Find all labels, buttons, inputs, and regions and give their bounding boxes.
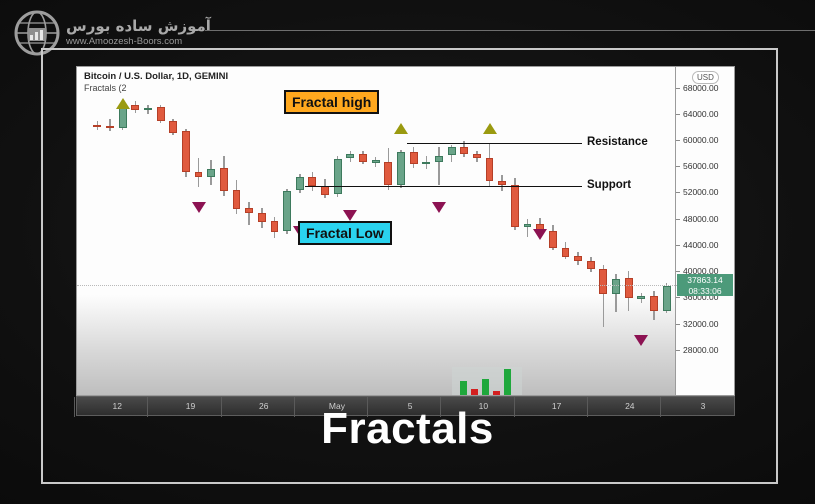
plot-bottom-shade [77,295,677,396]
resistance-label: Resistance [587,136,648,148]
candle-body [195,172,203,177]
fractal-low-callout: Fractal Low [298,221,392,245]
fractal-up-marker [483,123,497,134]
resistance-line [407,143,582,144]
fractal-down-marker [343,210,357,221]
candle-body [650,296,658,310]
chart-panel: Trading Strategy Guides Tradingstrategyg… [76,66,735,396]
candle-body [397,152,405,184]
candle-body [321,186,329,195]
page-title: Fractals [0,404,815,454]
candle-body [296,177,304,189]
candle-body [144,108,152,111]
fractal-down-marker [192,202,206,213]
candle-body [410,152,418,164]
watermark-candles-icon [452,367,522,396]
current-price-badge: 37863.14 08:33:06 [677,274,733,296]
candle-body [422,162,430,165]
screenshot-root: آموزش ساده بورس www.Amoozesh-Boors.com [0,0,815,504]
candle-body [498,181,506,185]
fractal-high-callout: Fractal high [284,90,379,114]
candle-body [106,126,114,129]
candle-body [182,131,190,172]
candle-body [169,121,177,133]
current-time-value: 08:33:06 [677,286,733,297]
fractal-down-marker [634,335,648,346]
chart-header: Bitcoin / U.S. Dollar, 1D, GEMINI Fracta… [84,71,228,94]
candle-body [448,147,456,155]
brand-url: www.Amoozesh-Boors.com [66,37,211,47]
fractal-down-marker [533,229,547,240]
brand-name-fa: آموزش ساده بورس [66,19,211,34]
current-price-line [77,285,677,286]
candle-body [460,147,468,154]
candle-body [599,269,607,295]
candle-body [220,168,228,192]
candle-body [131,105,139,110]
candle-body [245,208,253,213]
candle-body [625,278,633,298]
watermark: Trading Strategy Guides Tradingstrategyg… [387,367,587,396]
candle-body [93,125,101,128]
candle-body [157,107,165,121]
candle-body [435,156,443,163]
candle-body [308,177,316,186]
candle-body [587,261,595,270]
candle-body [511,185,519,226]
candle-body [562,248,570,257]
indicator-title: Fractals (2 [84,83,228,94]
price-axis[interactable]: USD 37863.14 08:33:06 68000.0064000.0060… [675,67,734,396]
currency-badge: USD [692,71,719,84]
candle-wick [527,219,529,237]
candle-body [346,154,354,159]
candle-body [473,154,481,157]
candle-body [271,221,279,231]
candle-body [283,191,291,231]
candle-body [486,158,494,181]
support-label: Support [587,179,631,191]
candle-wick [438,147,440,184]
candle-body [372,160,380,163]
current-price-value: 37863.14 [677,275,733,286]
candle-body [574,256,582,261]
fractal-up-marker [116,98,130,109]
symbol-title: Bitcoin / U.S. Dollar, 1D, GEMINI [84,71,228,83]
candle-body [233,190,241,209]
support-line [305,186,582,187]
candle-body [334,159,342,194]
candle-wick [248,202,250,226]
candle-body [359,154,367,162]
candle-body [119,107,127,128]
fractal-down-marker [432,202,446,213]
candle-body [549,231,557,249]
candle-body [258,213,266,222]
candle-body [663,286,671,311]
candle-body [637,296,645,299]
fractal-up-marker [394,123,408,134]
candle-body [524,224,532,227]
candle-body [384,162,392,186]
candle-body [207,169,215,178]
header-rule [205,30,815,31]
candle-body [612,279,620,294]
